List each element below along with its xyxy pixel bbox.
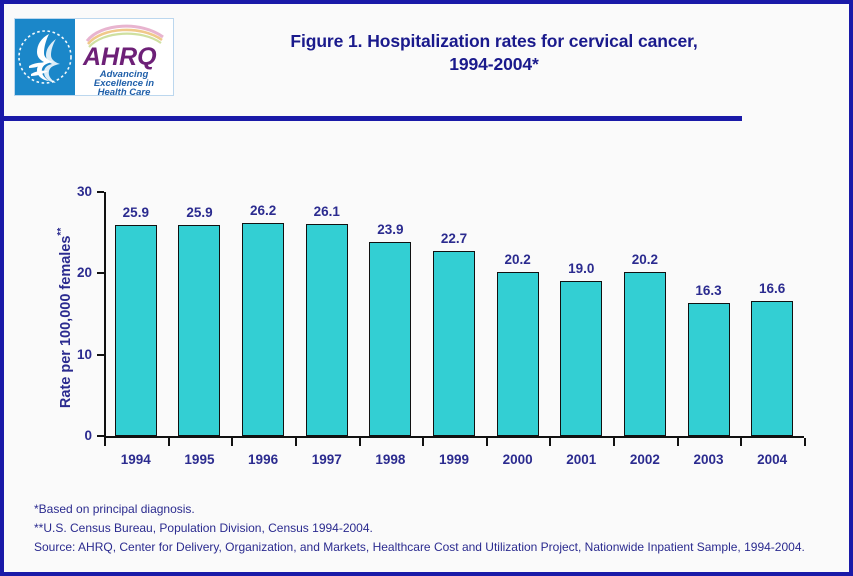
x-axis-tick <box>613 438 615 446</box>
x-axis-category-label: 2000 <box>488 452 548 467</box>
y-axis-label: Rate per 100,000 females** <box>56 203 74 433</box>
bar <box>178 225 220 436</box>
x-axis-category-label: 1999 <box>424 452 484 467</box>
bar <box>688 303 730 436</box>
x-axis-tick <box>359 438 361 446</box>
bar-value-label: 25.9 <box>106 205 166 220</box>
ahrq-wordmark: AHRQ Advancing Excellence in Health Care <box>75 19 173 95</box>
x-axis-category-label: 1998 <box>360 452 420 467</box>
bar <box>751 301 793 436</box>
figure-title-line-1: Figure 1. Hospitalization rates for cerv… <box>184 30 804 53</box>
x-axis-tick <box>549 438 551 446</box>
y-axis-label-footnote-marker: ** <box>56 228 67 236</box>
agency-logo: AHRQ Advancing Excellence in Health Care <box>14 18 174 96</box>
bar <box>560 281 602 436</box>
bar-value-label: 20.2 <box>488 252 548 267</box>
bar-value-label: 23.9 <box>360 222 420 237</box>
x-axis-tick <box>804 438 806 446</box>
y-axis-tick-label: 0 <box>52 430 92 442</box>
y-axis-tick <box>97 272 104 274</box>
x-axis-category-label: 2001 <box>551 452 611 467</box>
bar <box>242 223 284 436</box>
bar <box>306 224 348 436</box>
x-axis-tick <box>295 438 297 446</box>
y-axis-tick <box>97 435 104 437</box>
x-axis-tick <box>104 438 106 446</box>
plot-area: 0102030 25.925.926.226.123.922.720.219.0… <box>104 192 804 436</box>
x-axis-category-label: 2003 <box>679 452 739 467</box>
footnote-principal-diagnosis: *Based on principal diagnosis. <box>34 500 824 519</box>
y-axis-tick-label: 20 <box>52 267 92 279</box>
x-axis-category-label: 1995 <box>169 452 229 467</box>
x-axis-category-label: 1994 <box>106 452 166 467</box>
bar <box>433 251 475 436</box>
footnotes: *Based on principal diagnosis. **U.S. Ce… <box>34 500 824 557</box>
y-axis-tick <box>97 354 104 356</box>
footnote-census-source: **U.S. Census Bureau, Population Divisio… <box>34 519 824 538</box>
x-axis-tick <box>677 438 679 446</box>
page-header: AHRQ Advancing Excellence in Health Care… <box>4 4 849 104</box>
x-axis-category-label: 1997 <box>297 452 357 467</box>
figure-title: Figure 1. Hospitalization rates for cerv… <box>184 30 804 76</box>
figure-title-line-2: 1994-2004* <box>184 53 804 76</box>
y-axis-label-text: Rate per 100,000 females <box>58 236 74 409</box>
y-axis-tick-label: 30 <box>52 186 92 198</box>
x-axis-tick <box>740 438 742 446</box>
bar-value-label: 16.6 <box>742 281 802 296</box>
bar <box>497 272 539 436</box>
hhs-seal-icon <box>15 19 75 95</box>
bar-chart: Rate per 100,000 females** 0102030 25.92… <box>4 124 849 484</box>
bar-value-label: 26.2 <box>233 203 293 218</box>
x-axis-tick <box>422 438 424 446</box>
bar <box>369 242 411 436</box>
bar-value-label: 26.1 <box>297 204 357 219</box>
figure-page: AHRQ Advancing Excellence in Health Care… <box>0 0 853 576</box>
bar-value-label: 19.0 <box>551 261 611 276</box>
bar-value-label: 22.7 <box>424 231 484 246</box>
bar <box>624 272 666 436</box>
bar <box>115 225 157 436</box>
x-axis-category-label: 2002 <box>615 452 675 467</box>
footnote-data-source: Source: AHRQ, Center for Delivery, Organ… <box>34 538 824 557</box>
x-axis-tick <box>231 438 233 446</box>
x-axis-category-label: 1996 <box>233 452 293 467</box>
y-axis-tick-label: 10 <box>52 349 92 361</box>
x-axis-category-label: 2004 <box>742 452 802 467</box>
bar-value-label: 20.2 <box>615 252 675 267</box>
svg-text:Health Care: Health Care <box>98 87 152 95</box>
y-axis-tick <box>97 191 104 193</box>
bar-value-label: 16.3 <box>679 283 739 298</box>
x-axis-line <box>104 436 804 438</box>
svg-text:AHRQ: AHRQ <box>82 43 157 71</box>
header-divider <box>4 116 742 121</box>
y-axis-line <box>104 192 106 436</box>
x-axis-tick <box>486 438 488 446</box>
x-axis-tick <box>168 438 170 446</box>
bar-value-label: 25.9 <box>169 205 229 220</box>
